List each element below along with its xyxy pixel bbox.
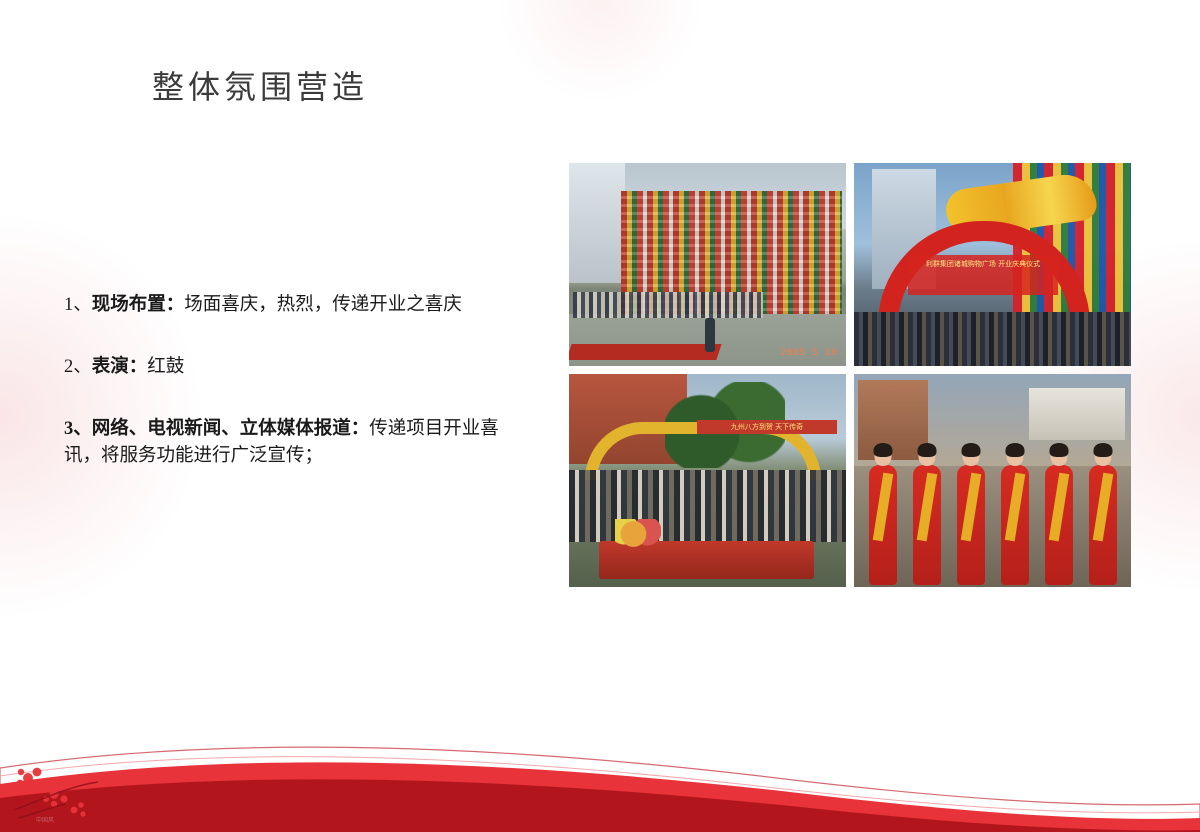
hair-shape — [873, 443, 892, 457]
plum-blossom-icon: 中国风 — [8, 752, 104, 826]
person-shape — [705, 318, 715, 352]
photo-seated-audience: 九州八方到贺 天下传奇 — [569, 374, 846, 587]
bullet-3-index: 3、 — [64, 419, 92, 439]
bullet-item-2: 2、表演：红鼓 — [64, 354, 534, 382]
hair-shape — [1093, 443, 1112, 457]
bullet-2-text: 红鼓 — [147, 357, 184, 377]
model-figure — [862, 445, 904, 587]
bullet-item-1: 1、现场布置：场面喜庆，热烈，传递开业之喜庆 — [64, 292, 534, 320]
hair-shape — [1005, 443, 1024, 457]
audience-seats-shape — [569, 470, 846, 542]
bottom-ribbon-decoration — [0, 672, 1200, 832]
bullet-3-label: 网络、电视新闻、立体媒体报道： — [92, 419, 370, 439]
red-carpet-shape — [569, 344, 722, 360]
photo-inflatable-arch-dragon: 利群集团诸城购物广场 开业庆典仪式 — [854, 163, 1131, 366]
building-shape — [569, 163, 625, 283]
photo-red-qipao-models — [854, 374, 1131, 587]
arch-banner-text: 利群集团诸城购物广场 开业庆典仪式 — [908, 255, 1058, 295]
photo-flag-wall-plaza: 2005 5 10 — [569, 163, 846, 366]
slide: 整体氛围营造 1、现场布置：场面喜庆，热烈，传递开业之喜庆 2、表演：红鼓 3、… — [0, 0, 1200, 832]
model-figure — [1038, 445, 1080, 587]
flower-arrangement-shape — [615, 519, 661, 549]
bullet-2-index: 2、 — [64, 357, 92, 377]
arch-banner-text: 九州八方到贺 天下传奇 — [697, 420, 837, 434]
hair-shape — [961, 443, 980, 457]
photo-grid: 2005 5 10 利群集团诸城购物广场 开业庆典仪式 九州八方到贺 天下传奇 — [569, 163, 1131, 588]
page-title: 整体氛围营造 — [152, 62, 368, 108]
bullet-2-label: 表演： — [92, 357, 148, 377]
models-row — [854, 437, 1131, 587]
bullet-1-text: 场面喜庆，热烈，传递开业之喜庆 — [184, 295, 462, 315]
crowd-shape — [573, 292, 763, 318]
bullet-1-index: 1、 — [64, 295, 92, 315]
bullet-1-label: 现场布置： — [92, 295, 185, 315]
body-text-block: 1、现场布置：场面喜庆，热烈，传递开业之喜庆 2、表演：红鼓 3、网络、电视新闻… — [64, 292, 534, 479]
model-figure — [994, 445, 1036, 587]
hair-shape — [1049, 443, 1068, 457]
hair-shape — [917, 443, 936, 457]
tent-shape — [1029, 388, 1125, 440]
model-figure — [906, 445, 948, 587]
bullet-item-3: 3、网络、电视新闻、立体媒体报道：传递项目开业喜讯，将服务功能进行广泛宣传； — [64, 416, 534, 472]
model-figure — [1082, 445, 1124, 587]
photo-date-stamp: 2005 5 10 — [780, 348, 838, 358]
svg-text:中国风: 中国风 — [36, 816, 54, 824]
model-figure — [950, 445, 992, 587]
crowd-shape — [854, 312, 1131, 366]
